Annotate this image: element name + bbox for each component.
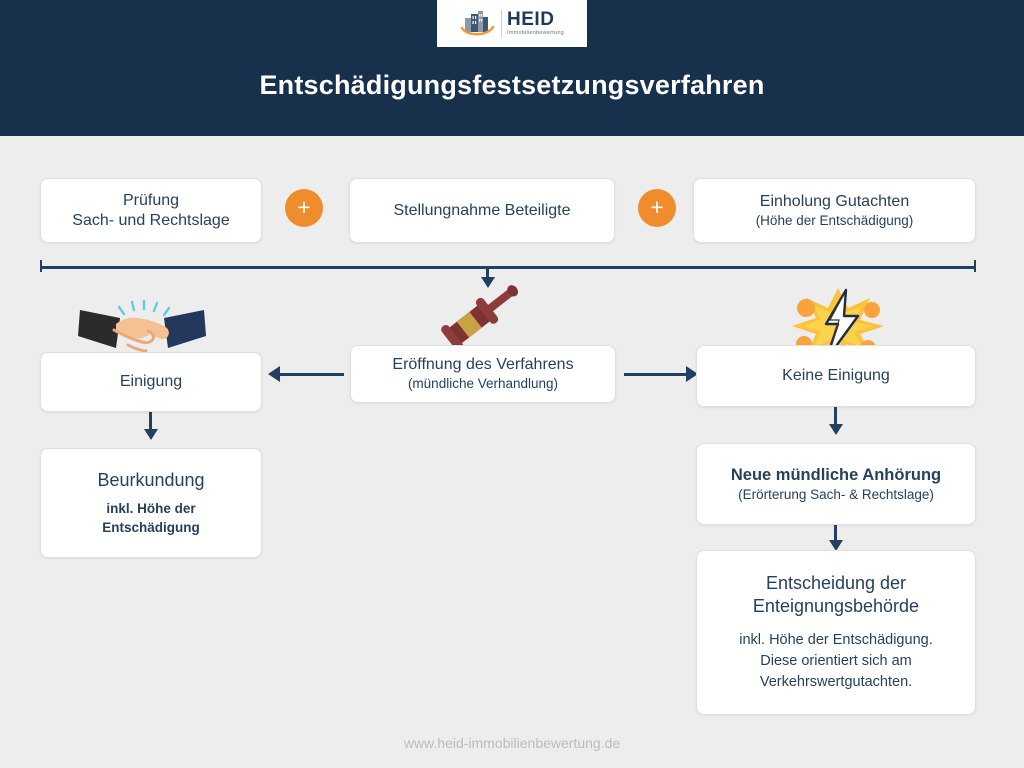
plus-badge-2: +	[638, 189, 676, 227]
step-box-pruefung-line2: Sach- und Rechtslage	[72, 211, 229, 231]
arrow-to-einigung-stem	[280, 373, 344, 376]
branch-box-einigung-label: Einigung	[120, 372, 182, 392]
branch-box-keine-einigung: Keine Einigung	[696, 345, 976, 407]
keine-einigung-to-anhoerung-stem	[834, 407, 837, 425]
arrow-to-einigung-head	[268, 366, 280, 382]
branch-box-anhoerung: Neue mündliche Anhörung (Erörterung Sach…	[696, 443, 976, 525]
branch-box-anhoerung-line2: (Erörterung Sach- & Rechtslage)	[738, 486, 934, 504]
step-box-stellungnahme: Stellungnahme Beteiligte	[349, 178, 615, 243]
bus-line-end-right	[974, 260, 976, 272]
branch-box-beurkundung: Beurkundung inkl. Höhe der Entschädigung	[40, 448, 262, 558]
logo-wordmark: HEID	[507, 10, 554, 29]
branch-box-beurkundung-line3: Entschädigung	[102, 519, 200, 537]
einigung-to-beurkundung-stem	[149, 412, 152, 430]
step-box-gutachten: Einholung Gutachten (Höhe der Entschädig…	[693, 178, 976, 243]
step-box-stellungnahme-line1: Stellungnahme Beteiligte	[393, 201, 570, 221]
center-box-eroeffnung: Eröffnung des Verfahrens (mündliche Verh…	[350, 345, 616, 403]
einigung-to-beurkundung-head	[144, 429, 158, 440]
plus-badge-1: +	[285, 189, 323, 227]
logo: HEID Immobilienbewertung	[437, 0, 587, 47]
anhoerung-to-entscheidung-stem	[834, 525, 837, 541]
branch-box-anhoerung-line1: Neue mündliche Anhörung	[731, 465, 941, 486]
step-box-gutachten-line2: (Höhe der Entschädigung)	[756, 212, 914, 230]
header-bar: HEID Immobilienbewertung Entschädigungsf…	[0, 0, 1024, 136]
page-title: Entschädigungsfestsetzungsverfahren	[0, 70, 1024, 101]
branch-box-einigung: Einigung	[40, 352, 262, 412]
bus-line-end-left	[40, 260, 42, 272]
center-box-line1: Eröffnung des Verfahrens	[392, 355, 573, 375]
branch-box-entscheidung-body2: Diese orientiert sich am	[760, 651, 912, 672]
center-box-line2: (mündliche Verhandlung)	[408, 375, 558, 393]
step-box-gutachten-line1: Einholung Gutachten	[760, 192, 909, 212]
branch-box-entscheidung-body3: Verkehrswertgutachten.	[760, 672, 912, 693]
logo-subtitle: Immobilienbewertung	[507, 31, 564, 37]
branch-box-entscheidung-body1: inkl. Höhe der Entschädigung.	[739, 630, 932, 651]
branch-box-keine-einigung-label: Keine Einigung	[782, 366, 890, 386]
bus-line	[40, 266, 976, 269]
keine-einigung-to-anhoerung-head	[829, 424, 843, 435]
branch-box-beurkundung-line1: Beurkundung	[97, 469, 204, 492]
branch-box-entscheidung-line1: Entscheidung der	[766, 572, 906, 595]
arrow-to-keine-einigung-stem	[624, 373, 686, 376]
step-box-pruefung: Prüfung Sach- und Rechtslage	[40, 178, 262, 243]
footer-url: www.heid-immobilienbewertung.de	[0, 735, 1024, 751]
branch-box-beurkundung-line2: inkl. Höhe der	[106, 500, 195, 518]
branch-box-entscheidung-line2: Enteignungsbehörde	[753, 595, 919, 618]
step-box-pruefung-line1: Prüfung	[123, 191, 179, 211]
infographic-canvas: HEID Immobilienbewertung Entschädigungsf…	[0, 0, 1024, 768]
branch-box-entscheidung: Entscheidung der Enteignungsbehörde inkl…	[696, 550, 976, 715]
building-swoosh-logo-icon	[460, 9, 496, 39]
